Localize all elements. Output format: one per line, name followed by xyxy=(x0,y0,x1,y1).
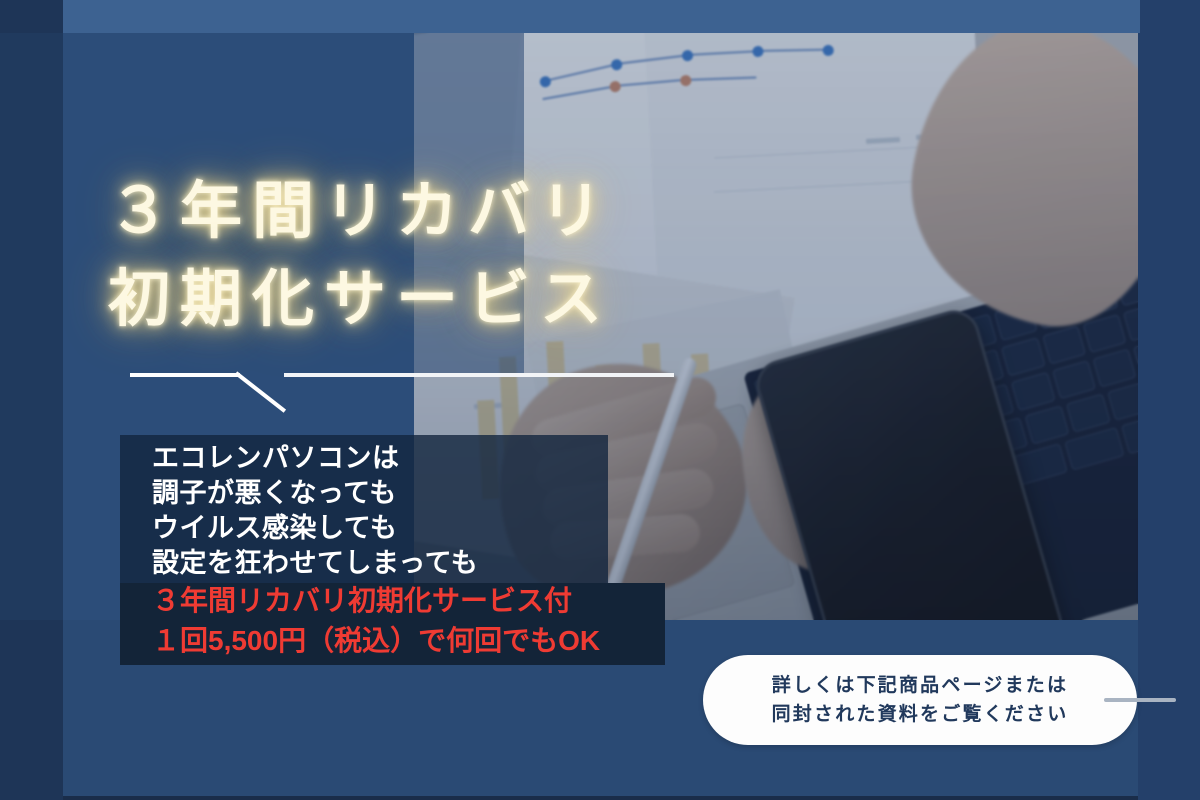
body-copy-highlight-1: ３年間リカバリ初期化サービス付 xyxy=(152,581,680,621)
body-copy-line-3: ウイルス感染しても xyxy=(152,511,680,546)
callout-pill[interactable]: 詳しくは下記商品ページまたは 同封された資料をご覧ください xyxy=(703,655,1137,745)
callout-line-2: 同封された資料をご覧ください xyxy=(772,700,1069,729)
body-copy-line-2: 調子が悪くなっても xyxy=(152,476,680,511)
callout-line-1: 詳しくは下記商品ページまたは xyxy=(772,671,1069,700)
callout-connector-line xyxy=(1104,698,1176,702)
top-band xyxy=(63,0,1140,33)
headline-line-2: 初期化サービス xyxy=(108,256,868,344)
headline-line-1: ３年間リカバリ xyxy=(108,168,868,256)
body-copy: エコレンパソコンは 調子が悪くなっても ウイルス感染しても 設定を狂わせてしまっ… xyxy=(120,435,680,661)
promo-banner: ３年間リカバリ 初期化サービス エコレンパソコンは 調子が悪くなっても ウイルス… xyxy=(0,0,1200,800)
right-rail xyxy=(1138,0,1200,800)
body-copy-line-4: 設定を狂わせてしまっても xyxy=(152,546,680,581)
headline: ３年間リカバリ 初期化サービス xyxy=(108,168,868,344)
connector-line-right xyxy=(284,373,674,377)
connector-line-left xyxy=(130,373,240,377)
body-copy-line-1: エコレンパソコンは xyxy=(152,441,680,476)
left-rail-overlay xyxy=(0,33,63,620)
body-copy-highlight-2: １回5,500円（税込）で何回でもOK xyxy=(152,621,680,661)
callout-text: 詳しくは下記商品ページまたは 同封された資料をご覧ください xyxy=(772,671,1069,729)
